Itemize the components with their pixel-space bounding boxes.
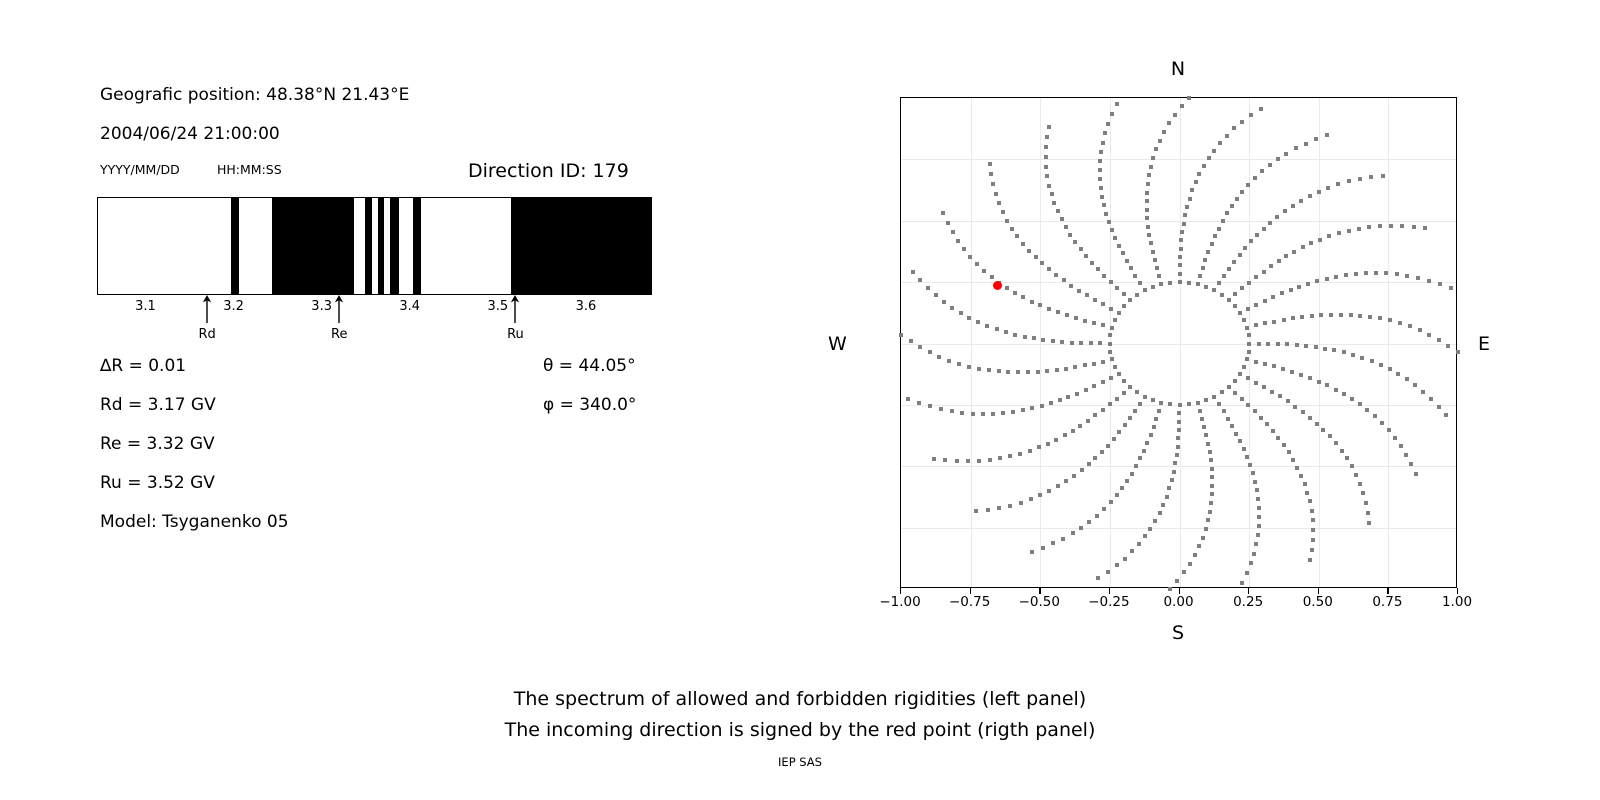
scatter-point — [1345, 456, 1349, 460]
scatter-point — [1291, 316, 1295, 320]
scatter-point — [1299, 199, 1303, 203]
scatter-point — [1374, 271, 1378, 275]
scatter-point — [1060, 340, 1064, 344]
scatter-point — [1270, 390, 1274, 394]
scatter-point — [1041, 338, 1045, 342]
scatter-point — [1196, 282, 1200, 286]
scatter-point — [1101, 323, 1105, 327]
scatter-point — [1001, 210, 1005, 214]
scatter-point — [1096, 267, 1100, 271]
scatter-point — [1064, 367, 1068, 371]
scatter-point — [1108, 333, 1112, 337]
scatter-point — [1113, 236, 1117, 240]
scatter-point — [1282, 443, 1286, 447]
scatter-point — [1092, 321, 1096, 325]
scatter-point — [1056, 209, 1060, 213]
gridline-vertical — [1180, 98, 1181, 587]
scatter-point — [1222, 409, 1226, 413]
scatter-point — [1284, 254, 1288, 258]
forbidden-band — [390, 198, 400, 294]
x-axis-tick-mark — [1318, 588, 1319, 594]
scatter-point — [1159, 282, 1163, 286]
scatter-point — [1255, 488, 1259, 492]
scatter-point — [1178, 263, 1182, 267]
scatter-point — [1349, 313, 1353, 317]
scatter-point — [1247, 333, 1251, 337]
scatter-point — [1106, 444, 1110, 448]
compass-label-west: W — [828, 333, 847, 355]
scatter-point — [1336, 182, 1340, 186]
scatter-point — [1220, 390, 1224, 394]
x-axis-tick-label: 1.00 — [1442, 594, 1472, 610]
scatter-point — [1083, 363, 1087, 367]
scatter-point — [974, 509, 978, 513]
scatter-point — [1301, 410, 1305, 414]
scatter-point — [1072, 474, 1076, 478]
scatter-point — [1085, 293, 1089, 297]
gridline-vertical — [1319, 98, 1320, 587]
scatter-point — [1158, 511, 1162, 515]
scatter-point — [1204, 527, 1208, 531]
scatter-point — [1360, 356, 1364, 360]
scatter-point — [1175, 579, 1179, 583]
scatter-point — [962, 247, 966, 251]
scatter-point — [1242, 318, 1246, 322]
scatter-point — [1029, 497, 1033, 501]
scatter-point — [1240, 397, 1244, 401]
scatter-point — [1323, 347, 1327, 351]
scatter-point — [955, 459, 959, 463]
scatter-point — [1268, 163, 1272, 167]
scatter-point — [1423, 226, 1427, 230]
scatter-point — [1109, 307, 1113, 311]
scatter-point — [1151, 156, 1155, 160]
scatter-point — [1240, 581, 1244, 585]
scatter-point — [1129, 266, 1133, 270]
rigidity-spectrum-bar — [97, 197, 652, 295]
scatter-point — [1227, 298, 1231, 302]
scatter-point — [937, 355, 941, 359]
scatter-point — [1044, 165, 1048, 169]
scatter-point — [1315, 422, 1319, 426]
scatter-point — [1176, 436, 1180, 440]
marker-label-ru: Ru — [507, 327, 524, 342]
scatter-point — [1078, 424, 1082, 428]
scatter-point — [1112, 437, 1116, 441]
scatter-point — [1064, 225, 1068, 229]
scatter-point — [1180, 104, 1184, 108]
scatter-point — [1142, 449, 1146, 453]
scatter-point — [1225, 134, 1229, 138]
scatter-point — [998, 456, 1002, 460]
scatter-point — [1106, 570, 1110, 574]
scatter-point — [1135, 293, 1139, 297]
x-axis-tick-label: 0.25 — [1233, 594, 1263, 610]
scatter-point — [1437, 405, 1441, 409]
scatter-point — [1210, 492, 1214, 496]
scatter-point — [1056, 310, 1060, 314]
param-re: Re = 3.32 GV — [100, 434, 215, 454]
scatter-point — [1413, 383, 1417, 387]
scatter-point — [1145, 441, 1149, 445]
scatter-point — [1117, 244, 1121, 248]
scatter-point — [1265, 422, 1269, 426]
scatter-point — [1101, 141, 1105, 145]
scatter-point — [997, 369, 1001, 373]
scatter-point — [1230, 204, 1234, 208]
datetime-value: 2004/06/24 21:00:00 — [100, 124, 280, 144]
scatter-point — [1247, 350, 1251, 354]
scatter-point — [941, 211, 945, 215]
scatter-point — [926, 286, 930, 290]
scatter-point — [928, 404, 932, 408]
scatter-point — [1101, 380, 1105, 384]
scatter-point — [1066, 395, 1070, 399]
x-axis-tick-label: 0.00 — [1163, 594, 1193, 610]
forbidden-band — [511, 198, 652, 294]
direction-id-label: Direction ID: 179 — [468, 160, 629, 182]
scatter-point — [1266, 342, 1270, 346]
scatter-point — [1123, 557, 1127, 561]
scatter-point — [1210, 242, 1214, 246]
scatter-point — [1446, 344, 1450, 348]
scatter-point — [1095, 514, 1099, 518]
scatter-point — [1246, 183, 1250, 187]
scatter-point — [1158, 139, 1162, 143]
scatter-point — [1071, 531, 1075, 535]
scatter-point — [1388, 367, 1392, 371]
scatter-point — [959, 311, 963, 315]
scatter-point — [1311, 518, 1315, 522]
scatter-point — [947, 359, 951, 363]
scatter-point — [995, 327, 999, 331]
scatter-point — [1062, 278, 1066, 282]
scatter-point — [1157, 409, 1161, 413]
scatter-point — [1197, 172, 1201, 176]
scatter-point — [1102, 274, 1106, 278]
scatter-point — [1243, 246, 1247, 250]
scatter-point — [1167, 121, 1171, 125]
scatter-point — [1387, 428, 1391, 432]
scatter-point — [1245, 455, 1249, 459]
compass-label-east: E — [1478, 333, 1490, 355]
scatter-point — [1286, 399, 1290, 403]
scatter-point — [1149, 433, 1153, 437]
scatter-point — [1310, 509, 1314, 513]
scatter-point — [1418, 328, 1422, 332]
scatter-point — [1010, 227, 1014, 231]
scatter-point — [1399, 444, 1403, 448]
scatter-point — [981, 412, 985, 416]
scatter-point — [1351, 353, 1355, 357]
scatter-point — [1226, 417, 1230, 421]
scatter-point — [985, 324, 989, 328]
param-ru: Ru = 3.52 GV — [100, 473, 215, 493]
scatter-point — [1008, 454, 1012, 458]
scatter-point — [1107, 220, 1111, 224]
scatter-point — [1254, 360, 1258, 364]
scatter-point — [967, 365, 971, 369]
scatter-point — [1251, 471, 1255, 475]
scatter-point — [1277, 259, 1281, 263]
scatter-point — [1021, 242, 1025, 246]
scatter-point — [1238, 439, 1242, 443]
scatter-point — [986, 508, 990, 512]
scatter-point — [1437, 338, 1441, 342]
scatter-point — [1255, 233, 1259, 237]
scatter-point — [1311, 538, 1315, 542]
scatter-point — [1145, 216, 1149, 220]
scatter-point — [1238, 372, 1242, 376]
scatter-point — [1325, 277, 1329, 281]
scatter-point — [1283, 209, 1287, 213]
scatter-point — [1162, 130, 1166, 134]
scatter-point — [1093, 413, 1097, 417]
scatter-point — [1173, 461, 1177, 465]
scatter-point — [1247, 281, 1251, 285]
scatter-point — [1151, 250, 1155, 254]
scatter-point — [1068, 233, 1072, 237]
scatter-point — [1079, 526, 1083, 530]
scatter-point — [1309, 241, 1313, 245]
scatter-point — [1456, 350, 1460, 354]
scatter-point — [1060, 217, 1064, 221]
param-theta: θ = 44.05° — [543, 356, 636, 376]
scatter-point — [989, 172, 993, 176]
scatter-point — [1319, 313, 1323, 317]
scatter-point — [1358, 177, 1362, 181]
scatter-point — [1133, 409, 1137, 413]
scatter-point — [956, 239, 960, 243]
scatter-point — [1188, 562, 1192, 566]
scatter-point — [966, 459, 970, 463]
scatter-point — [1113, 318, 1117, 322]
scatter-point — [1409, 462, 1413, 466]
scatter-point — [1253, 409, 1257, 413]
scatter-point — [1327, 234, 1331, 238]
scatter-point — [932, 457, 936, 461]
scatter-point — [1047, 489, 1051, 493]
scatter-point — [1037, 445, 1041, 449]
scatter-point — [1109, 376, 1113, 380]
scatter-point — [1102, 203, 1106, 207]
scatter-point — [1187, 96, 1191, 100]
scatter-point — [1073, 240, 1077, 244]
scatter-point — [1408, 324, 1412, 328]
scatter-point — [1178, 255, 1182, 259]
scatter-point — [1183, 213, 1187, 217]
scatter-point — [1108, 342, 1112, 346]
scatter-point — [1358, 482, 1362, 486]
param-rd: Rd = 3.17 GV — [100, 395, 216, 415]
scatter-point — [1028, 449, 1032, 453]
scatter-point — [1299, 373, 1303, 377]
scatter-point — [1145, 191, 1149, 195]
scatter-point — [1197, 544, 1201, 548]
scatter-point — [1016, 370, 1020, 374]
scatter-point — [1209, 458, 1213, 462]
scatter-point — [1301, 245, 1305, 249]
scatter-point — [1086, 419, 1090, 423]
scatter-point — [968, 255, 972, 259]
scatter-point — [1395, 272, 1399, 276]
scatter-point — [1300, 315, 1304, 319]
scatter-point — [1396, 372, 1400, 376]
scatter-point — [1238, 253, 1242, 257]
scatter-point — [1055, 368, 1059, 372]
scatter-point — [1202, 425, 1206, 429]
scatter-point — [1109, 500, 1113, 504]
forbidden-band — [365, 198, 372, 294]
scatter-point — [1103, 131, 1107, 135]
scatter-point — [1354, 473, 1358, 477]
scatter-point — [1117, 311, 1121, 315]
caption-line-2: The incoming direction is signed by the … — [0, 719, 1600, 741]
scatter-point — [1206, 518, 1210, 522]
scatter-point — [1263, 321, 1267, 325]
scatter-point — [1212, 288, 1216, 292]
scatter-point — [1021, 295, 1025, 299]
scatter-point — [1146, 182, 1150, 186]
scatter-point — [1287, 450, 1291, 454]
scatter-point — [1317, 190, 1321, 194]
scatter-point — [1225, 211, 1229, 215]
scatter-point — [1238, 311, 1242, 315]
footer-organization: IEP SAS — [0, 755, 1600, 769]
scatter-point — [1252, 552, 1256, 556]
scatter-point — [1263, 362, 1267, 366]
scatter-point — [942, 300, 946, 304]
geographic-position: Geografic position: 48.38°N 21.43°E — [100, 85, 409, 105]
scatter-point — [1193, 553, 1197, 557]
gridline-horizontal — [901, 159, 1456, 160]
scatter-point — [1245, 357, 1249, 361]
scatter-point — [1045, 174, 1049, 178]
scatter-point — [1145, 208, 1149, 212]
compass-label-north: N — [1171, 58, 1185, 80]
scatter-point — [1077, 289, 1081, 293]
scatter-point — [1240, 286, 1244, 290]
scatter-point — [994, 192, 998, 196]
scatter-point — [1030, 300, 1034, 304]
scatter-point — [1369, 175, 1373, 179]
scatter-point — [1115, 102, 1119, 106]
scatter-point — [1178, 403, 1182, 407]
scatter-point — [987, 368, 991, 372]
scatter-point — [1344, 273, 1348, 277]
scatter-point — [1306, 282, 1310, 286]
scatter-point — [1092, 362, 1096, 366]
scatter-point — [1272, 320, 1276, 324]
scatter-point — [1308, 376, 1312, 380]
scatter-point — [1032, 336, 1036, 340]
scatter-point — [1044, 155, 1048, 159]
scatter-point — [1090, 261, 1094, 265]
scatter-point — [1281, 367, 1285, 371]
gridline-horizontal — [901, 221, 1456, 222]
scatter-point — [975, 262, 979, 266]
scatter-point — [1249, 113, 1253, 117]
forbidden-band — [231, 198, 239, 294]
scatter-point — [1122, 304, 1126, 308]
x-axis-tick-mark — [1179, 588, 1180, 594]
scatter-point — [1400, 224, 1404, 228]
scatter-point — [1147, 233, 1151, 237]
scatter-point — [950, 409, 954, 413]
scatter-point — [1099, 150, 1103, 154]
scatter-point — [1299, 474, 1303, 478]
scatter-point — [1206, 250, 1210, 254]
scatter-point — [1275, 215, 1279, 219]
scatter-point — [1206, 442, 1210, 446]
scatter-point — [1233, 292, 1237, 296]
scatter-point — [1308, 558, 1312, 562]
scatter-point — [1429, 397, 1433, 401]
scatter-point — [967, 316, 971, 320]
scatter-point — [1220, 293, 1224, 297]
scatter-point — [991, 412, 995, 416]
scatter-point — [1089, 341, 1093, 345]
scatter-point — [1019, 501, 1023, 505]
gridline-horizontal — [901, 466, 1456, 467]
scatter-point — [1365, 408, 1369, 412]
scatter-point — [1350, 464, 1354, 468]
scatter-point — [1295, 343, 1299, 347]
scatter-point — [1254, 323, 1258, 327]
x-axis-tick-label: 0.75 — [1372, 594, 1402, 610]
scatter-point — [1113, 365, 1117, 369]
scatter-point — [1133, 274, 1137, 278]
scatter-point — [1217, 227, 1221, 231]
scatter-point — [977, 459, 981, 463]
scatter-point — [1242, 365, 1246, 369]
scatter-point — [1083, 319, 1087, 323]
scatter-point — [1046, 442, 1050, 446]
scatter-point — [1405, 274, 1409, 278]
scatter-point — [1235, 197, 1239, 201]
scatter-point — [1151, 398, 1155, 402]
scatter-point — [1227, 385, 1231, 389]
scatter-point — [1308, 416, 1312, 420]
scatter-point — [1271, 429, 1275, 433]
scatter-point — [1247, 342, 1251, 346]
x-axis-tick-mark — [1109, 588, 1110, 594]
scatter-point — [1334, 441, 1338, 445]
scatter-point — [1285, 342, 1289, 346]
marker-label-rd: Rd — [198, 327, 215, 342]
scatter-point — [1347, 229, 1351, 233]
scatter-point — [950, 306, 954, 310]
scatter-point — [1310, 314, 1314, 318]
scatter-point — [1253, 176, 1257, 180]
scatter-point — [1101, 302, 1105, 306]
scatter-point — [1404, 453, 1408, 457]
scatter-point — [1008, 504, 1012, 508]
scatter-point — [1054, 438, 1058, 442]
scatter-point — [1196, 401, 1200, 405]
scatter-point — [1405, 377, 1409, 381]
scatter-point — [1154, 147, 1158, 151]
scatter-point — [1262, 270, 1266, 274]
scatter-point — [1134, 464, 1138, 468]
scatter-point — [977, 367, 981, 371]
gridline-vertical — [971, 98, 972, 587]
x-axis-tick-mark — [1387, 588, 1388, 594]
scatter-point — [1278, 394, 1282, 398]
scatter-point — [1221, 219, 1225, 223]
scatter-point — [1370, 359, 1374, 363]
scatter-point — [997, 201, 1001, 205]
